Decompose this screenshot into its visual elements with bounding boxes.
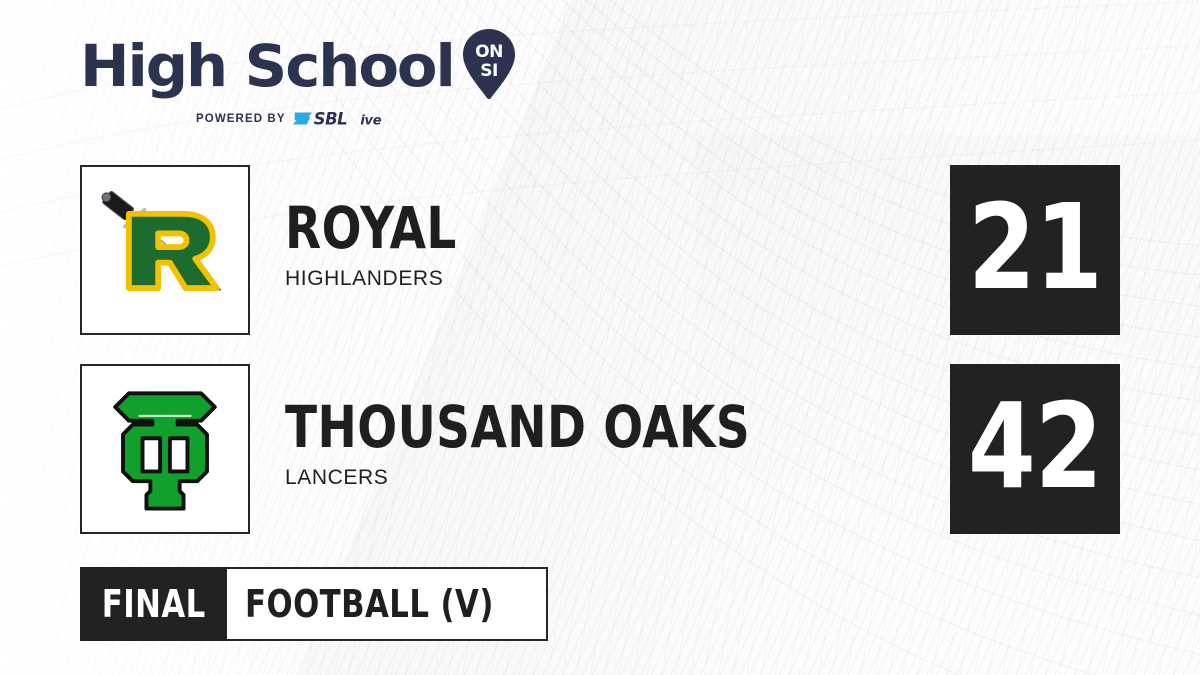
team-logo-card (80, 364, 250, 534)
team-name: THOUSAND OAKS (285, 400, 750, 456)
team-score-box: 21 (950, 165, 1120, 335)
page-title: High School (80, 37, 454, 95)
brand-header: High School ON SI POWERED BY SBL ive (80, 30, 518, 128)
team-score-box: 42 (950, 364, 1120, 534)
team-mascot: LANCERS (285, 466, 802, 490)
sport-label-panel: FOOTBALL (V) (227, 567, 548, 641)
thousand-oaks-lancers-logo (82, 366, 248, 532)
scoreboard-graphic: High School ON SI POWERED BY SBL ive (0, 0, 1200, 675)
team-logo-card (80, 165, 250, 335)
sblive-logo-icon: SBL ive (293, 109, 407, 128)
svg-text:ive: ive (360, 114, 381, 128)
svg-text:SBL: SBL (313, 110, 346, 128)
team-name: ROYAL (285, 201, 457, 257)
royal-highlanders-logo (82, 167, 248, 333)
svg-text:ON: ON (476, 42, 504, 62)
powered-by-label: POWERED BY (196, 113, 286, 125)
status-state-label: FINAL (102, 582, 206, 626)
team-mascot: HIGHLANDERS (285, 267, 476, 291)
team-score: 42 (968, 387, 1102, 505)
team-score: 21 (968, 188, 1102, 306)
svg-text:SI: SI (481, 61, 499, 81)
powered-by-row: POWERED BY SBL ive (196, 109, 518, 128)
status-badge: FINAL (80, 567, 227, 641)
brand-title-row: High School ON SI (80, 30, 518, 102)
onsi-pin-icon: ON SI (460, 28, 518, 100)
sport-label: FOOTBALL (V) (245, 582, 494, 626)
team-identity: THOUSAND OAKS LANCERS (285, 400, 802, 490)
game-status-bar: FINAL FOOTBALL (V) (80, 567, 548, 641)
team-identity: ROYAL HIGHLANDERS (285, 201, 476, 291)
